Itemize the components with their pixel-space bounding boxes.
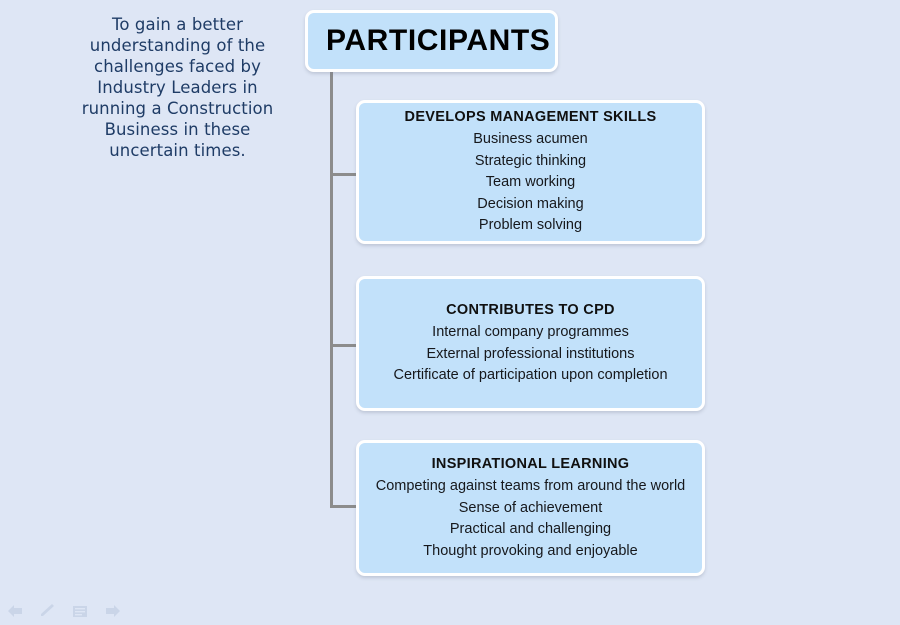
branch-item: Internal company programmes xyxy=(432,322,629,344)
back-arrow-icon[interactable] xyxy=(6,603,26,619)
branch-heading: INSPIRATIONAL LEARNING xyxy=(432,454,630,475)
branch-item: Strategic thinking xyxy=(475,151,586,173)
branch-item: Problem solving xyxy=(479,215,582,237)
branch-item: Practical and challenging xyxy=(450,519,611,541)
branch-node-develops-management-skills[interactable]: DEVELOPS MANAGEMENT SKILLS Business acum… xyxy=(356,100,705,244)
watermark-toolbar xyxy=(6,603,122,619)
branch-item: Thought provoking and enjoyable xyxy=(423,541,637,563)
branch-item: Certificate of participation upon comple… xyxy=(393,365,667,387)
lines-icon[interactable] xyxy=(70,603,90,619)
diagram-canvas: To gain a better understanding of the ch… xyxy=(0,0,900,625)
forward-arrow-icon[interactable] xyxy=(102,603,122,619)
branch-item: Business acumen xyxy=(473,129,587,151)
branch-node-inspirational-learning[interactable]: INSPIRATIONAL LEARNING Competing against… xyxy=(356,440,705,576)
branch-item: Competing against teams from around the … xyxy=(376,476,686,498)
root-node-title: PARTICIPANTS xyxy=(308,26,550,56)
branch-item: Sense of achievement xyxy=(459,498,602,520)
pencil-icon[interactable] xyxy=(38,603,58,619)
branch-heading: CONTRIBUTES TO CPD xyxy=(446,300,615,321)
branch-item: Decision making xyxy=(477,194,583,216)
branch-item: External professional institutions xyxy=(427,344,635,366)
intro-paragraph: To gain a better understanding of the ch… xyxy=(60,14,295,161)
branch-item: Team working xyxy=(486,172,575,194)
branch-node-contributes-to-cpd[interactable]: CONTRIBUTES TO CPD Internal company prog… xyxy=(356,276,705,411)
root-node-participants[interactable]: PARTICIPANTS xyxy=(305,10,558,72)
branch-heading: DEVELOPS MANAGEMENT SKILLS xyxy=(405,107,657,128)
